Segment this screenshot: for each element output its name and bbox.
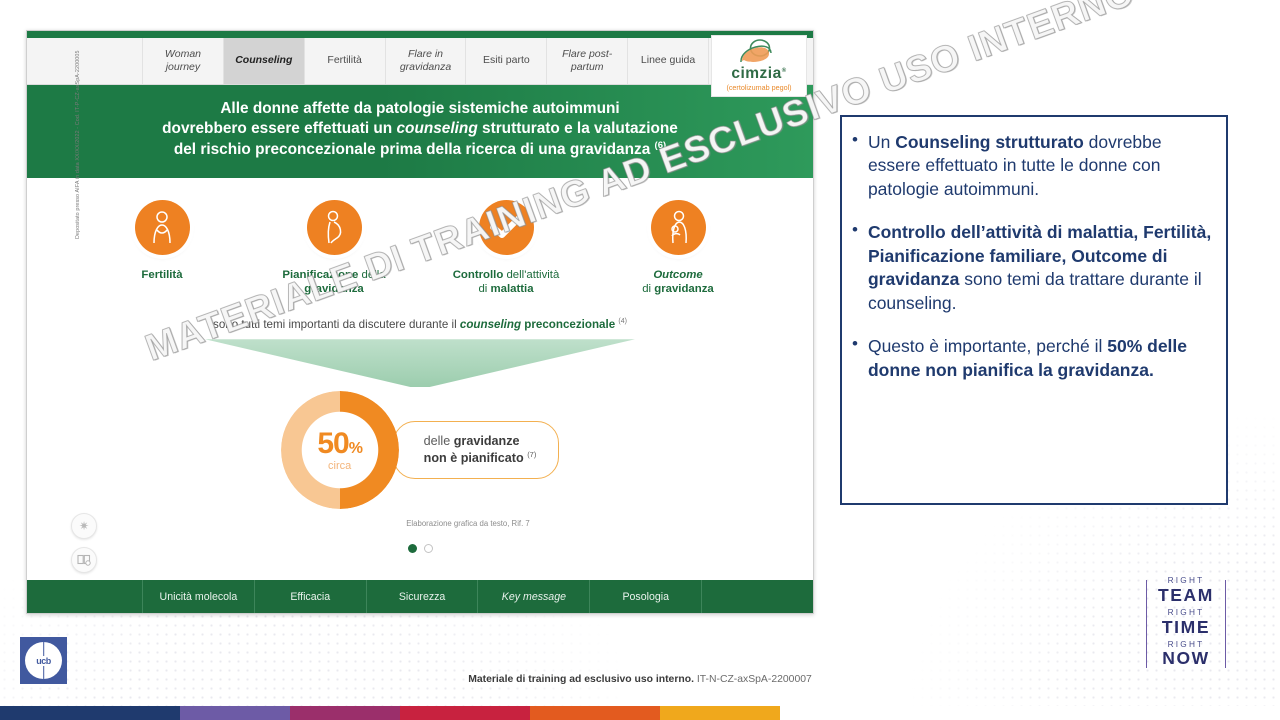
bottom-tab-spacer [27, 580, 143, 613]
bottom-tab-key-message[interactable]: Key message [478, 580, 590, 613]
banner-text: Alle donne affette da patologie sistemic… [67, 99, 773, 161]
tab-flare-in-gravidanza[interactable]: Flare in gravidanza [386, 38, 467, 84]
cimzia-wordmark: cimzia® [731, 66, 786, 82]
topic-icon-row: Fertilità Pianificazione dellagravidanza… [27, 200, 813, 298]
tab-label: Esiti parto [483, 54, 530, 67]
tab-label: Woman journey [147, 48, 219, 74]
pagination-dot-active[interactable] [408, 544, 417, 553]
now-label: NOW [1162, 649, 1210, 667]
banner-line2a: dovrebbero essere effettuati un [162, 120, 396, 137]
donut-chart: 50% circa [281, 391, 399, 509]
donut-chart-block: 50% circa delle gravidanzenon è pianific… [27, 391, 813, 509]
callout-bold: gravidanze [454, 434, 520, 448]
donut-value: 50% circa [281, 391, 399, 509]
subline-text: sono tutti temi importanti da discutere … [27, 318, 813, 331]
time-label: TIME [1162, 618, 1210, 636]
band-red [400, 706, 530, 720]
topic-label: Controllo dell'attivitàdi malattia [442, 268, 570, 298]
pregnant-woman-icon [307, 200, 362, 255]
band-orange [530, 706, 660, 720]
banner-reference: (6) [655, 140, 667, 151]
slide-canvas: Woman journey Counseling Fertilità Flare… [0, 0, 1280, 720]
speaker-notes-box: • Un Counseling strutturato dovrebbe ess… [840, 115, 1228, 505]
callout-bold2: non è pianificato [424, 451, 524, 465]
topic-label-bold: Fertilità [141, 269, 182, 281]
topic-label-plain: dell'attività [503, 269, 559, 281]
pagination-dot[interactable] [424, 544, 433, 553]
note-bullet-3: • Questo è importante, perché il 50% del… [852, 335, 1214, 382]
tab-linee-guida[interactable]: Linee guida [628, 38, 709, 84]
footer-disclaimer: Materiale di training ad esclusivo uso i… [0, 674, 1280, 685]
bullet-part-bold: Counseling strutturato [895, 132, 1084, 152]
note-bullet-1: • Un Counseling strutturato dovrebbe ess… [852, 131, 1214, 201]
mother-baby-icon [651, 200, 706, 255]
topic-label-line2: gravidanza [304, 283, 364, 295]
bottom-tab-label: Posologia [622, 591, 669, 603]
slide-banner: Alle donne affette da patologie sistemic… [27, 85, 813, 178]
topic-label: Fertilità [98, 268, 226, 283]
bullet-text: Controllo dell’attività di malattia, Fer… [868, 221, 1214, 315]
book-icon[interactable] [71, 547, 97, 573]
topic-fertilita[interactable]: Fertilità [98, 200, 226, 298]
deposit-code-text: Depositato presso AIFA in data XX/XX/202… [75, 50, 81, 239]
bullet-part-plain: Questo è importante, perché il [868, 336, 1107, 356]
subline-a: sono tutti temi importanti da discutere … [213, 318, 460, 331]
footer-bold: Materiale di training ad esclusivo uso i… [468, 674, 694, 685]
bullet-part-plain: Un [868, 132, 895, 152]
bottom-tab-empty [702, 580, 813, 613]
tab-woman-journey[interactable]: Woman journey [143, 38, 224, 84]
elaboration-note: Elaborazione grafica da testo, Rif. 7 [123, 519, 813, 528]
woman-fertility-icon [135, 200, 190, 255]
bottom-tab-sicurezza[interactable]: Sicurezza [367, 580, 479, 613]
banner-line2b: strutturato e la valutazione [478, 120, 678, 137]
banner-line1: Alle donne affette da patologie sistemic… [220, 100, 619, 117]
donut-symbol: % [349, 440, 362, 457]
cimzia-brand-logo: cimzia® (certolizumab pegol) [711, 35, 807, 97]
topic-label-italic: Outcome [653, 269, 702, 281]
band-white [780, 706, 1280, 720]
presentation-slide: Woman journey Counseling Fertilità Flare… [26, 30, 814, 614]
banner-line3: del rischio preconcezionale prima della … [174, 141, 650, 158]
bullet-marker: • [852, 335, 858, 382]
bullet-marker: • [852, 131, 858, 201]
tab-flare-post-partum[interactable]: Flare post-partum [547, 38, 628, 84]
subline-reference: (4) [618, 318, 627, 325]
tab-label: Flare post-partum [551, 48, 623, 74]
donut-number: 50 [317, 427, 348, 460]
green-arrow-icon [205, 339, 635, 387]
right-team-time-now-logo: RIGHT TEAM RIGHT TIME RIGHT NOW [1146, 580, 1226, 668]
bullet-marker: • [852, 221, 858, 315]
bottom-tab-label: Unicità molecola [160, 591, 238, 603]
bottom-tab-posologia[interactable]: Posologia [590, 580, 702, 613]
bottom-tab-label: Efficacia [290, 591, 330, 603]
cimzia-trademark: ® [782, 68, 787, 74]
bottom-tab-label: Sicurezza [399, 591, 446, 603]
band-navy [0, 706, 180, 720]
asterisk-glyph: ✷ [79, 519, 89, 533]
cimzia-swirl-icon [738, 39, 780, 65]
cimzia-name: cimzia [731, 65, 781, 82]
banner-emphasis: counseling [396, 120, 477, 137]
footer-code: IT-N-CZ-axSpA-2200007 [694, 674, 812, 685]
team-label: TEAM [1158, 586, 1214, 604]
bullet-text: Un Counseling strutturato dovrebbe esser… [868, 131, 1214, 201]
topic-label: Pianificazione dellagravidanza [270, 268, 398, 298]
tab-label: Flare in gravidanza [390, 48, 462, 74]
bottom-tab-bar[interactable]: Unicità molecola Efficacia Sicurezza Key… [27, 580, 813, 613]
note-bullet-2: • Controllo dell’attività di malattia, F… [852, 221, 1214, 315]
subline-b: preconcezionale [521, 318, 615, 331]
arrow-divider-wrap [27, 339, 813, 387]
topic-label-line2-plain: di [642, 283, 654, 295]
ucb-wordmark: ucb [35, 656, 52, 666]
donut-callout: delle gravidanzenon è pianificato (7) [393, 421, 560, 479]
topic-label-line2-bold: gravidanza [654, 283, 714, 295]
top-tab-bar[interactable]: Woman journey Counseling Fertilità Flare… [27, 38, 813, 85]
subline-emphasis: counseling [460, 318, 521, 331]
topic-label-plain: della [358, 269, 385, 281]
donut-percent: 50% [317, 429, 362, 459]
topic-label: Outcomedi gravidanza [614, 268, 742, 298]
slide-top-rule [27, 31, 813, 38]
asterisk-icon[interactable]: ✷ [71, 513, 97, 539]
tab-bar-spacer [27, 38, 143, 84]
tab-label: Fertilità [327, 54, 361, 67]
topic-label-bold: Controllo [453, 269, 504, 281]
cimzia-molecule: (certolizumab pegol) [726, 83, 791, 92]
donut-circa: circa [328, 460, 351, 472]
checkmark-icon [479, 200, 534, 255]
band-yellow [660, 706, 780, 720]
tab-fertilita[interactable]: Fertilità [305, 38, 386, 84]
bottom-color-band [0, 706, 1280, 720]
topic-outcome[interactable]: Outcomedi gravidanza [614, 200, 742, 298]
pagination-dots[interactable] [27, 544, 813, 553]
bottom-tab-efficacia[interactable]: Efficacia [255, 580, 367, 613]
tab-esiti-parto[interactable]: Esiti parto [466, 38, 547, 84]
callout-plain: delle [424, 434, 454, 448]
tab-label: Counseling [235, 54, 292, 67]
tab-counseling[interactable]: Counseling [224, 38, 305, 84]
callout-reference: (7) [527, 450, 536, 459]
bottom-tab-label: Key message [502, 591, 566, 603]
band-purple [180, 706, 290, 720]
bottom-tab-unicita-molecola[interactable]: Unicità molecola [143, 580, 255, 613]
topic-label-bold: Pianificazione [282, 269, 358, 281]
band-magenta [290, 706, 400, 720]
topic-label-line2-bold: malattia [490, 283, 533, 295]
topic-label-line2-plain: di [478, 283, 490, 295]
tab-label: Linee guida [641, 54, 695, 67]
bullet-text: Questo è importante, perché il 50% delle… [868, 335, 1214, 382]
topic-pianificazione[interactable]: Pianificazione dellagravidanza [270, 200, 398, 298]
topic-controllo[interactable]: Controllo dell'attivitàdi malattia [442, 200, 570, 298]
